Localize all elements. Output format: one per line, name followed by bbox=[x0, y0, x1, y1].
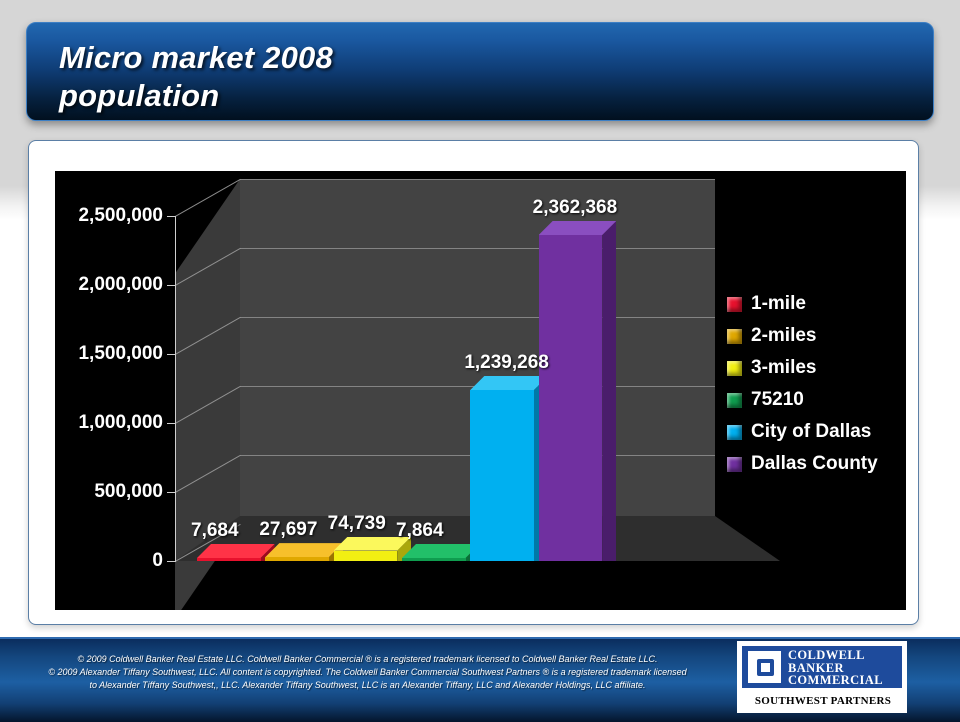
bar-75210 bbox=[402, 544, 466, 561]
logo-brand-text: COLDWELL BANKER COMMERCIAL bbox=[788, 649, 898, 687]
logo-tagline: SOUTHWEST PARTNERS bbox=[753, 693, 893, 709]
cb-monogram-icon bbox=[748, 651, 781, 683]
legend-color-swatch bbox=[727, 297, 742, 312]
legend-item-city-of-dallas: City of Dallas bbox=[727, 416, 902, 448]
legend-item-label: City of Dallas bbox=[751, 421, 871, 443]
bar-value-label: 74,739 bbox=[328, 513, 386, 535]
bar-front-face bbox=[197, 558, 261, 561]
logo-blue-panel: COLDWELL BANKER COMMERCIAL bbox=[742, 646, 902, 688]
bar-chart: 0500,0001,000,0001,500,0002,000,0002,500… bbox=[55, 171, 906, 610]
y-tick bbox=[167, 216, 176, 217]
bar-dallas-county bbox=[539, 221, 603, 561]
footer-legal-text: © 2009 Coldwell Banker Real Estate LLC. … bbox=[10, 653, 725, 692]
legend-color-swatch bbox=[727, 329, 742, 344]
y-tick bbox=[167, 285, 176, 286]
bar-value-label: 2,362,368 bbox=[533, 197, 618, 219]
y-tick-label: 1,500,000 bbox=[78, 343, 163, 365]
bar-1-mile bbox=[197, 544, 261, 561]
bar-front-face bbox=[470, 390, 534, 561]
y-tick bbox=[167, 354, 176, 355]
y-tick-label: 500,000 bbox=[94, 481, 163, 503]
legend-item-label: 1-mile bbox=[751, 293, 806, 315]
legend-item-75210: 75210 bbox=[727, 384, 902, 416]
bar-value-label: 27,697 bbox=[259, 519, 317, 541]
chart-y-tick-labels: 0500,0001,000,0001,500,0002,000,0002,500… bbox=[55, 171, 163, 610]
gridline bbox=[240, 248, 715, 249]
legend-color-swatch bbox=[727, 425, 742, 440]
bar-front-face bbox=[334, 551, 398, 561]
bar-2-miles bbox=[265, 543, 329, 561]
chart-y-axis bbox=[175, 216, 176, 561]
chart-legend: 1-mile2-miles3-miles75210City of DallasD… bbox=[727, 288, 902, 480]
bar-front-face bbox=[265, 557, 329, 561]
legend-item-3-miles: 3-miles bbox=[727, 352, 902, 384]
bar-front-face bbox=[539, 235, 603, 561]
legend-item-1-mile: 1-mile bbox=[727, 288, 902, 320]
coldwell-banker-logo: COLDWELL BANKER COMMERCIAL SOUTHWEST PAR… bbox=[737, 641, 907, 713]
legend-item-dallas-county: Dallas County bbox=[727, 448, 902, 480]
bar-side-face bbox=[602, 221, 616, 561]
y-tick bbox=[167, 492, 176, 493]
legend-item-label: Dallas County bbox=[751, 453, 878, 475]
legend-item-label: 2-miles bbox=[751, 325, 816, 347]
bar-value-label: 7,864 bbox=[396, 520, 444, 542]
y-tick bbox=[167, 561, 176, 562]
page-title: Micro market 2008 population bbox=[59, 39, 899, 115]
legend-item-label: 75210 bbox=[751, 389, 804, 411]
y-tick-label: 0 bbox=[152, 550, 163, 572]
bar-city-of-dallas bbox=[470, 376, 534, 561]
legend-item-label: 3-miles bbox=[751, 357, 816, 379]
gridline bbox=[240, 179, 715, 180]
legend-color-swatch bbox=[727, 393, 742, 408]
gridline bbox=[240, 317, 715, 318]
cb-monogram-inner bbox=[757, 659, 774, 676]
y-tick bbox=[167, 423, 176, 424]
legend-color-swatch bbox=[727, 361, 742, 376]
bar-3-miles bbox=[334, 537, 398, 561]
slide-title-bar: Micro market 2008 population bbox=[26, 22, 934, 121]
y-tick-label: 2,000,000 bbox=[78, 274, 163, 296]
y-tick-label: 2,500,000 bbox=[78, 205, 163, 227]
bar-front-face bbox=[402, 558, 466, 561]
legend-item-2-miles: 2-miles bbox=[727, 320, 902, 352]
y-tick-label: 1,000,000 bbox=[78, 412, 163, 434]
legend-color-swatch bbox=[727, 457, 742, 472]
bar-value-label: 7,684 bbox=[191, 520, 239, 542]
bar-value-label: 1,239,268 bbox=[464, 352, 549, 374]
